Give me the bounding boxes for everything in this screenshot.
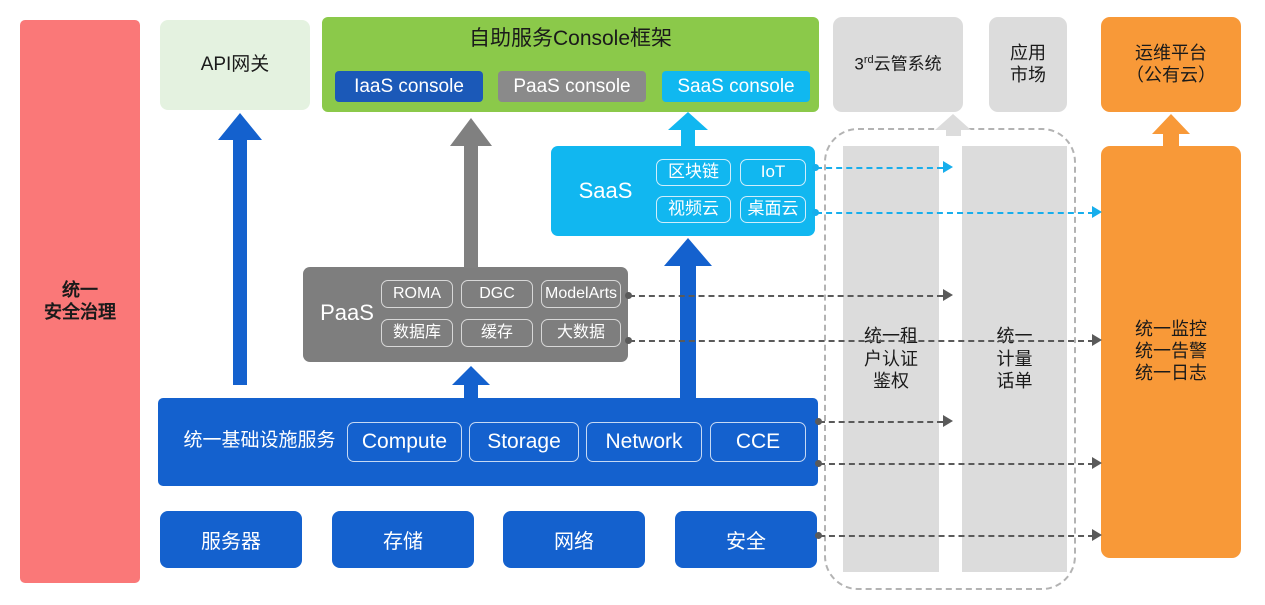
api-gateway-box: API网关: [160, 20, 310, 110]
hardware-box-network: 网络: [503, 511, 645, 568]
console-framework-box: 自助服务Console框架 IaaS console PaaS console …: [322, 17, 819, 112]
unified-tenant-auth-column: 统一租 户认证 鉴权: [843, 146, 939, 572]
paas-console-chip[interactable]: PaaS console: [498, 71, 646, 102]
ops-platform-public-cloud-box: 运维平台 （公有云）: [1101, 17, 1241, 112]
arrow-infra-to-api-gateway: [218, 113, 262, 385]
app-market-box: 应用 市场: [989, 17, 1067, 112]
dashed-arrowhead-paas-auth: [943, 289, 953, 301]
infra-chip-compute[interactable]: Compute: [347, 422, 462, 462]
saas-console-chip[interactable]: SaaS console: [662, 71, 810, 102]
saas-chip-iot[interactable]: IoT: [740, 159, 806, 186]
dashed-arrowhead-saas-auth: [943, 161, 953, 173]
dashed-line-saas-to-monitoring: [816, 212, 1094, 214]
hardware-box-server: 服务器: [160, 511, 302, 568]
saas-block-label: SaaS: [563, 178, 648, 205]
security-governance-column: 统一 安全治理: [20, 20, 140, 583]
dashed-arrowhead-saas-monitor: [1092, 206, 1102, 218]
unified-infrastructure-bar: 统一基础设施服务 Compute Storage Network CCE: [158, 398, 818, 486]
dashed-line-infra-to-auth: [819, 421, 943, 423]
arrow-saas-to-console: [668, 112, 708, 146]
dashed-arrowhead-infra-auth: [943, 415, 953, 427]
iaas-console-chip[interactable]: IaaS console: [335, 71, 483, 102]
saas-chip-video-cloud[interactable]: 视频云: [656, 196, 731, 223]
infra-chip-network[interactable]: Network: [586, 422, 702, 462]
dashed-arrowhead-hardware-monitor: [1092, 529, 1102, 541]
paas-chip-bigdata[interactable]: 大数据: [541, 319, 621, 347]
paas-chip-database[interactable]: 数据库: [381, 319, 453, 347]
saas-block: SaaS 区块链 IoT 视频云 桌面云: [551, 146, 815, 236]
infrastructure-label: 统一基础设施服务: [172, 429, 347, 452]
third-party-cloud-mgmt-box: 3rd云管系统: [833, 17, 963, 112]
unified-monitoring-column: 统一监控 统一告警 统一日志: [1101, 146, 1241, 558]
arrow-paas-to-console: [450, 118, 492, 268]
hardware-box-storage: 存储: [332, 511, 474, 568]
saas-chip-blockchain[interactable]: 区块链: [656, 159, 731, 186]
infra-chip-storage[interactable]: Storage: [469, 422, 579, 462]
arrow-infra-to-paas: [452, 366, 490, 399]
dashed-line-paas-to-monitoring: [629, 340, 1094, 342]
dashed-line-paas-to-auth: [629, 295, 943, 297]
arrow-monitoring-to-ops-platform: [1152, 114, 1190, 146]
dashed-line-infra-to-monitoring: [819, 463, 1094, 465]
infra-chip-cce[interactable]: CCE: [710, 422, 806, 462]
dashed-arrowhead-infra-monitor: [1092, 457, 1102, 469]
architecture-diagram: 统一 安全治理 API网关 自助服务Console框架 IaaS console…: [0, 0, 1265, 605]
saas-chip-desktop-cloud[interactable]: 桌面云: [740, 196, 806, 223]
paas-chip-cache[interactable]: 缓存: [461, 319, 533, 347]
paas-block: PaaS ROMA DGC ModelArts 数据库 缓存 大数据: [303, 267, 628, 362]
hardware-box-security: 安全: [675, 511, 817, 568]
paas-chip-dgc[interactable]: DGC: [461, 280, 533, 308]
dashed-line-hardware-to-monitoring: [819, 535, 1094, 537]
console-framework-title: 自助服务Console框架: [322, 26, 819, 52]
paas-chip-roma[interactable]: ROMA: [381, 280, 453, 308]
paas-block-label: PaaS: [311, 300, 383, 327]
dashed-arrowhead-paas-monitor: [1092, 334, 1102, 346]
dashed-line-saas-to-auth: [816, 167, 943, 169]
paas-chip-modelarts[interactable]: ModelArts: [541, 280, 621, 308]
arrow-infra-to-saas: [664, 238, 712, 400]
unified-metering-column: 统一 计量 话单: [962, 146, 1067, 572]
third-cloud-label: 3rd云管系统: [854, 54, 941, 75]
